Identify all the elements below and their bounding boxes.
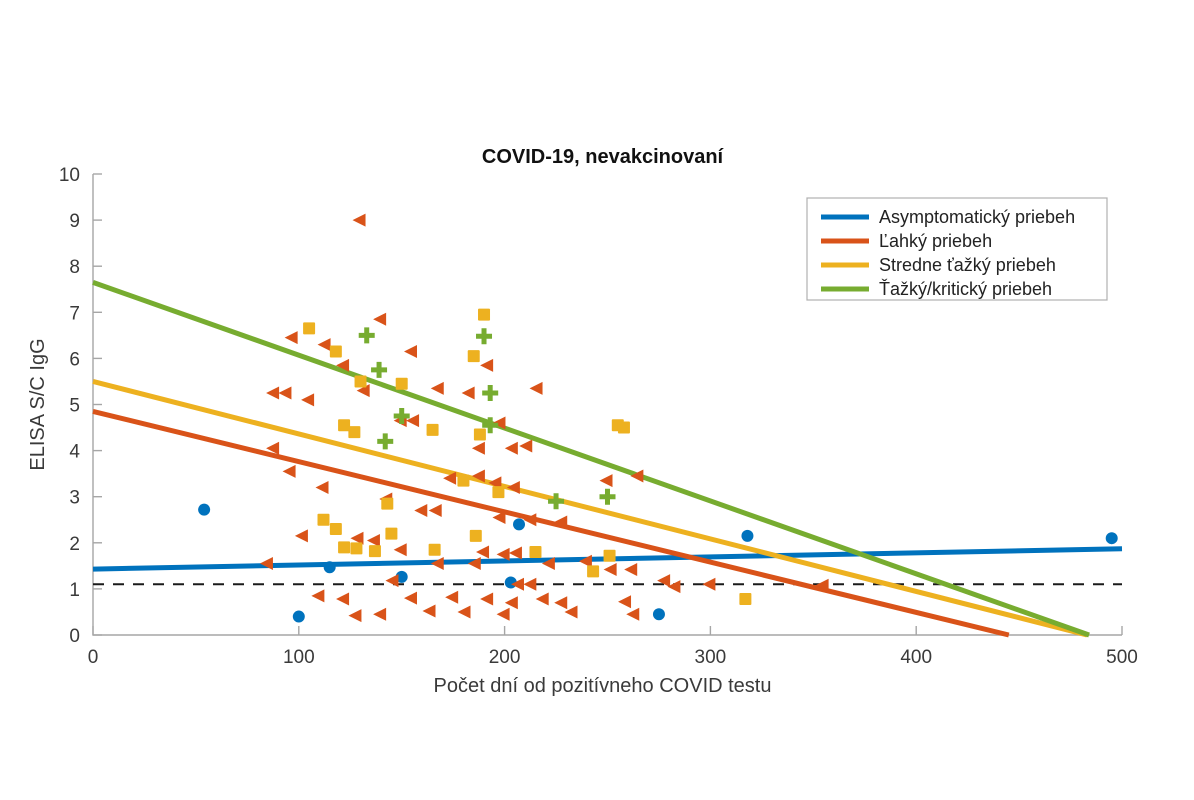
point-mild bbox=[536, 593, 549, 606]
point-mild bbox=[285, 331, 298, 344]
point-severe bbox=[476, 328, 492, 344]
point-mild bbox=[505, 596, 518, 609]
y-tick-label: 6 bbox=[69, 349, 80, 370]
point-severe bbox=[377, 433, 393, 449]
y-tick-label: 0 bbox=[69, 626, 80, 647]
point-moderate bbox=[396, 378, 408, 390]
point-moderate bbox=[587, 565, 599, 577]
point-moderate bbox=[381, 498, 393, 510]
point-moderate bbox=[355, 375, 367, 387]
point-mild bbox=[431, 557, 444, 570]
y-axis-title: ELISA S/C IgG bbox=[27, 338, 49, 470]
point-mild bbox=[283, 465, 296, 478]
point-asymptomatic bbox=[513, 518, 525, 530]
y-tick-label: 2 bbox=[69, 534, 80, 555]
point-mild bbox=[353, 214, 366, 227]
point-asymptomatic bbox=[293, 611, 305, 623]
point-mild bbox=[618, 595, 631, 608]
point-asymptomatic bbox=[741, 530, 753, 542]
x-axis-title: Počet dní od pozitívneho COVID testu bbox=[434, 675, 772, 697]
point-moderate bbox=[330, 345, 342, 357]
chart-figure: 0123456789100100200300400500COVID-19, ne… bbox=[0, 0, 1194, 800]
point-asymptomatic bbox=[198, 504, 210, 516]
point-moderate bbox=[427, 424, 439, 436]
point-moderate bbox=[350, 542, 362, 554]
point-mild bbox=[348, 609, 361, 622]
x-tick-label: 0 bbox=[88, 647, 99, 668]
point-mild bbox=[462, 386, 475, 399]
point-mild bbox=[505, 442, 518, 455]
point-mild bbox=[497, 608, 510, 621]
point-mild bbox=[523, 578, 536, 591]
point-mild bbox=[457, 605, 470, 618]
point-moderate bbox=[348, 426, 360, 438]
point-mild bbox=[480, 593, 493, 606]
point-mild bbox=[404, 345, 417, 358]
point-moderate bbox=[618, 422, 630, 434]
point-mild bbox=[702, 578, 715, 591]
point-mild bbox=[266, 386, 279, 399]
point-asymptomatic bbox=[1106, 532, 1118, 544]
point-moderate bbox=[429, 544, 441, 556]
y-tick-label: 4 bbox=[69, 442, 80, 463]
legend-label-moderate: Stredne ťažký priebeh bbox=[879, 255, 1056, 275]
point-mild bbox=[507, 481, 520, 494]
point-mild bbox=[554, 596, 567, 609]
point-mild bbox=[301, 393, 314, 406]
y-tick-label: 7 bbox=[69, 303, 80, 324]
y-tick-label: 3 bbox=[69, 488, 80, 509]
point-mild bbox=[278, 386, 291, 399]
point-moderate bbox=[338, 419, 350, 431]
point-mild bbox=[429, 504, 442, 517]
x-tick-label: 400 bbox=[900, 647, 932, 668]
x-tick-label: 300 bbox=[695, 647, 727, 668]
point-mild bbox=[423, 605, 436, 618]
y-tick-label: 8 bbox=[69, 257, 80, 278]
point-severe bbox=[371, 362, 387, 378]
legend-label-asymptomatic: Asymptomatický priebeh bbox=[879, 207, 1075, 227]
point-moderate bbox=[492, 486, 504, 498]
point-moderate bbox=[338, 541, 350, 553]
point-moderate bbox=[474, 428, 486, 440]
point-moderate bbox=[369, 545, 381, 557]
point-mild bbox=[626, 608, 639, 621]
point-severe bbox=[482, 385, 498, 401]
point-moderate bbox=[385, 528, 397, 540]
point-mild bbox=[476, 546, 489, 559]
point-moderate bbox=[303, 322, 315, 334]
point-mild bbox=[318, 338, 331, 351]
point-mild bbox=[600, 474, 613, 487]
fit-line-severe bbox=[93, 282, 1089, 635]
chart-title: COVID-19, nevakcinovaní bbox=[482, 146, 725, 168]
point-moderate bbox=[529, 546, 541, 558]
point-mild bbox=[472, 442, 485, 455]
point-moderate bbox=[468, 350, 480, 362]
point-mild bbox=[604, 563, 617, 576]
point-mild bbox=[445, 591, 458, 604]
point-asymptomatic bbox=[324, 561, 336, 573]
point-mild bbox=[519, 439, 532, 452]
x-tick-label: 500 bbox=[1106, 647, 1138, 668]
y-tick-label: 1 bbox=[69, 580, 80, 601]
point-mild bbox=[414, 504, 427, 517]
point-mild bbox=[385, 574, 398, 587]
y-tick-label: 10 bbox=[59, 165, 80, 186]
point-moderate bbox=[478, 309, 490, 321]
point-mild bbox=[367, 534, 380, 547]
y-tick-label: 9 bbox=[69, 211, 80, 232]
point-mild bbox=[431, 382, 444, 395]
point-mild bbox=[404, 592, 417, 605]
point-moderate bbox=[317, 514, 329, 526]
chart-canvas: 0123456789100100200300400500COVID-19, ne… bbox=[0, 0, 1194, 800]
point-mild bbox=[315, 481, 328, 494]
point-mild bbox=[468, 557, 481, 570]
point-mild bbox=[509, 546, 522, 559]
point-mild bbox=[624, 563, 637, 576]
point-mild bbox=[295, 529, 308, 542]
point-mild bbox=[373, 313, 386, 326]
point-moderate bbox=[604, 550, 616, 562]
point-severe bbox=[600, 489, 616, 505]
point-mild bbox=[336, 593, 349, 606]
point-mild bbox=[373, 608, 386, 621]
fit-line-moderate bbox=[93, 381, 1087, 635]
legend-label-mild: Ľahký priebeh bbox=[879, 231, 992, 251]
x-tick-label: 100 bbox=[283, 647, 315, 668]
point-moderate bbox=[330, 523, 342, 535]
point-severe bbox=[359, 327, 375, 343]
x-tick-label: 200 bbox=[489, 647, 521, 668]
point-moderate bbox=[470, 530, 482, 542]
point-mild bbox=[311, 589, 324, 602]
point-moderate bbox=[457, 475, 469, 487]
point-mild bbox=[530, 382, 543, 395]
point-mild bbox=[394, 543, 407, 556]
point-mild bbox=[480, 359, 493, 372]
point-asymptomatic bbox=[653, 608, 665, 620]
legend-label-severe: Ťažký/kritický priebeh bbox=[879, 279, 1052, 299]
y-tick-label: 5 bbox=[69, 396, 80, 417]
point-moderate bbox=[739, 593, 751, 605]
